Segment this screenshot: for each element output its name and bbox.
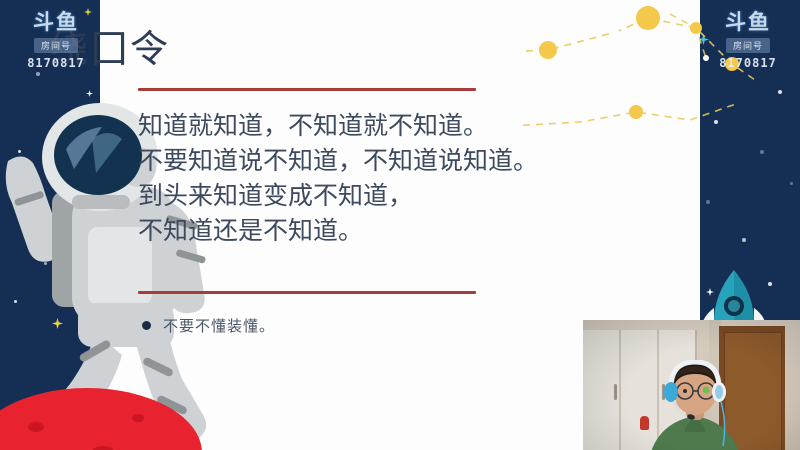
room-badge-label: 房间号 xyxy=(726,38,770,53)
verse-text: 知道就知道，不知道就不知道。 不要知道说不知道，不知道说知道。 到头来知道变成不… xyxy=(138,108,558,248)
douyu-watermark-left: 斗鱼 房间号 8170817 xyxy=(8,6,104,70)
bullet-label: 不要不懂装懂。 xyxy=(163,315,275,336)
bullet-item: 不要不懂装懂。 xyxy=(142,315,275,336)
room-id: 8170817 xyxy=(8,56,104,70)
streamer-camera-feed[interactable] xyxy=(583,320,800,450)
stream-canvas: 绕囗令 知道就知道，不知道就不知道。 不要知道说不知道，不知道说知道。 到头来知… xyxy=(0,0,800,450)
douyu-watermark-right: 斗鱼 房间号 8170817 xyxy=(700,6,796,70)
camera-vignette xyxy=(583,320,800,450)
divider-top xyxy=(138,88,476,91)
room-id: 8170817 xyxy=(700,56,796,70)
douyu-logo: 斗鱼 xyxy=(8,6,104,36)
divider-bottom xyxy=(138,291,476,294)
room-badge-label: 房间号 xyxy=(34,38,78,53)
bullet-dot-icon xyxy=(142,321,151,330)
douyu-logo: 斗鱼 xyxy=(700,6,796,36)
